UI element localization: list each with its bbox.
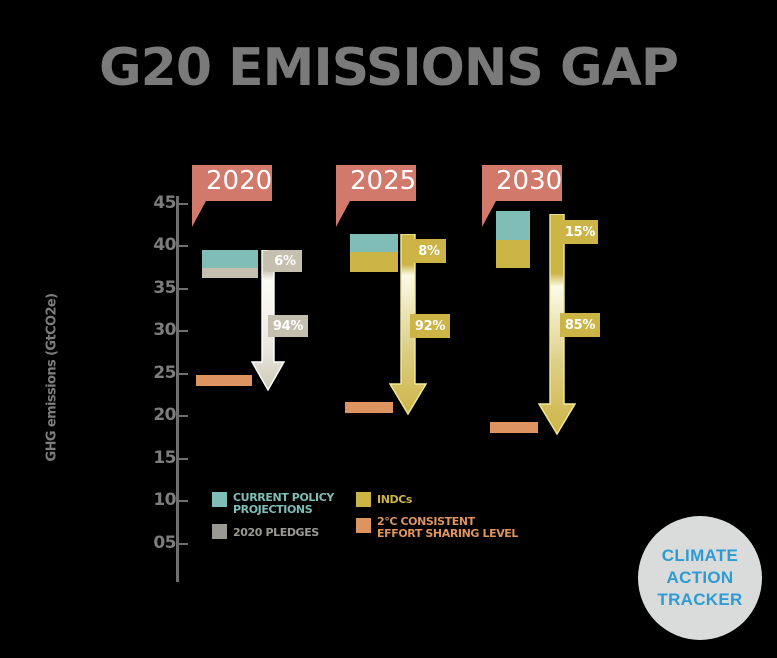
y-tick-mark xyxy=(179,245,188,247)
pct-bottom-2025: 92% xyxy=(410,314,450,338)
y-tick-mark xyxy=(179,330,188,332)
y-tick-15: 15 xyxy=(124,448,176,468)
pct-bottom-2020: 94% xyxy=(268,315,308,337)
y-tick-40: 40 xyxy=(124,235,176,255)
year-flag-tail xyxy=(482,201,496,227)
y-tick-mark xyxy=(179,203,188,205)
year-flag-2025: 2025 xyxy=(336,165,416,201)
logo-line-3: TRACKER xyxy=(657,589,742,611)
pct-top-2030: 15% xyxy=(562,220,598,244)
legend-label-pledges: 2020 PLEDGES xyxy=(233,527,319,539)
bar-pledges-2020 xyxy=(202,268,258,278)
y-tick-label: 25 xyxy=(134,363,176,383)
y-tick-label: 05 xyxy=(134,533,176,553)
y-tick-05: 05 xyxy=(124,533,176,553)
y-tick-label: 35 xyxy=(134,278,176,298)
infographic-canvas: G20 EMISSIONS GAP GHG emissions (GtCO2e)… xyxy=(0,0,777,658)
y-tick-25: 25 xyxy=(124,363,176,383)
legend-swatch-two-degree xyxy=(356,518,371,533)
y-tick-mark xyxy=(179,415,188,417)
y-tick-45: 45 xyxy=(124,193,176,213)
legend-label-indc: INDCs xyxy=(377,494,412,506)
y-tick-label: 40 xyxy=(134,235,176,255)
legend-swatch-current-policy xyxy=(212,492,227,507)
y-tick-20: 20 xyxy=(124,405,176,425)
y-tick-label: 30 xyxy=(134,320,176,340)
year-flag-tail xyxy=(336,201,350,227)
y-tick-10: 10 xyxy=(124,490,176,510)
legend-swatch-indc xyxy=(356,492,371,507)
y-tick-label: 20 xyxy=(134,405,176,425)
pct-top-2020: 6% xyxy=(268,250,302,272)
y-axis-title: GHG emissions (GtCO2e) xyxy=(45,263,60,493)
y-tick-label: 45 xyxy=(134,193,176,213)
y-tick-label: 15 xyxy=(134,448,176,468)
bar-two-degree-2025 xyxy=(345,402,393,413)
bar-current-policy-2020 xyxy=(202,250,258,268)
y-tick-mark xyxy=(179,543,188,545)
logo-line-2: ACTION xyxy=(667,567,734,589)
y-tick-mark xyxy=(179,500,188,502)
y-tick-35: 35 xyxy=(124,278,176,298)
year-flag-tail xyxy=(192,201,206,227)
bar-two-degree-2020 xyxy=(196,375,252,386)
page-title: G20 EMISSIONS GAP xyxy=(0,38,777,98)
legend-swatch-pledges xyxy=(212,524,227,539)
logo-line-1: CLIMATE xyxy=(662,545,738,567)
year-flag-2020: 2020 xyxy=(192,165,272,201)
legend-label-two-degree: 2°C CONSISTENT EFFORT SHARING LEVEL xyxy=(377,516,518,540)
y-tick-mark xyxy=(179,288,188,290)
y-tick-mark xyxy=(179,373,188,375)
climate-action-tracker-logo[interactable]: CLIMATE ACTION TRACKER xyxy=(638,516,762,640)
bar-two-degree-2030 xyxy=(490,422,538,433)
year-flag-label: 2020 xyxy=(206,166,272,196)
year-flag-2030: 2030 xyxy=(482,165,562,201)
year-flag-label: 2030 xyxy=(496,166,562,196)
pct-bottom-2030: 85% xyxy=(560,313,600,337)
y-tick-label: 10 xyxy=(134,490,176,510)
legend-label-current-policy: CURRENT POLICY PROJECTIONS xyxy=(233,492,334,516)
bar-current-policy-2030 xyxy=(496,211,530,240)
pct-top-2025: 8% xyxy=(412,239,446,263)
y-axis-line xyxy=(176,196,179,582)
y-tick-mark xyxy=(179,458,188,460)
bar-indc-2030 xyxy=(496,240,530,268)
y-tick-30: 30 xyxy=(124,320,176,340)
year-flag-label: 2025 xyxy=(350,166,416,196)
